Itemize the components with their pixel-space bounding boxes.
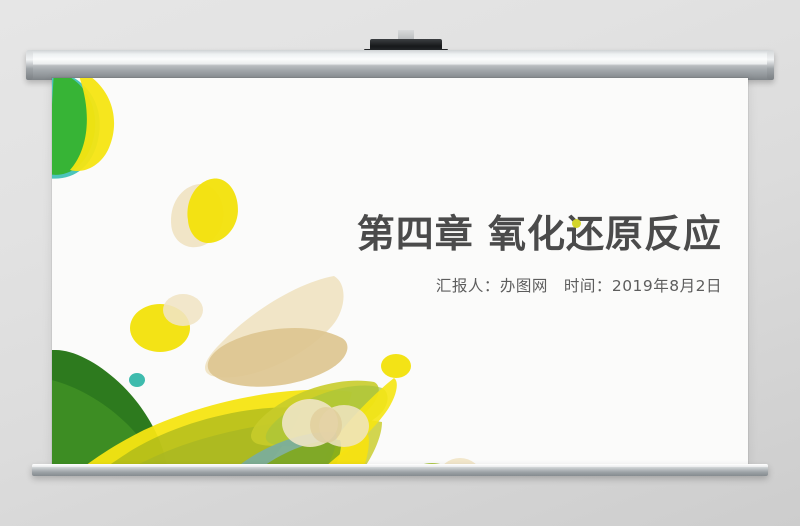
screen-casing (26, 50, 774, 80)
casing-end-cap-right (767, 50, 774, 80)
title-accent-dot (572, 219, 581, 228)
leaf-pair-upper-beige-yellow (161, 173, 248, 253)
circle-cluster-yellow-beige (130, 294, 203, 352)
dot-teal-left (129, 373, 145, 387)
wall-background: 第四章 氧化还原反应 汇报人：办图网 时间：2019年8月2日 (0, 0, 800, 526)
projector-screen: 第四章 氧化还原反应 汇报人：办图网 时间：2019年8月2日 (26, 30, 774, 486)
circle-beige (163, 294, 203, 326)
weight-bar-highlight (32, 464, 768, 467)
dot-yellow-center (381, 354, 411, 378)
page-title: 第四章 氧化还原反应 (242, 213, 722, 256)
slide-text-block: 第四章 氧化还原反应 汇报人：办图网 时间：2019年8月2日 (242, 213, 722, 296)
slide-canvas: 第四章 氧化还原反应 汇报人：办图网 时间：2019年8月2日 (52, 78, 748, 466)
leaf-cluster-top-left (52, 78, 114, 179)
slide-subtitle: 汇报人：办图网 时间：2019年8月2日 (242, 274, 722, 296)
casing-end-cap-left (26, 50, 33, 80)
